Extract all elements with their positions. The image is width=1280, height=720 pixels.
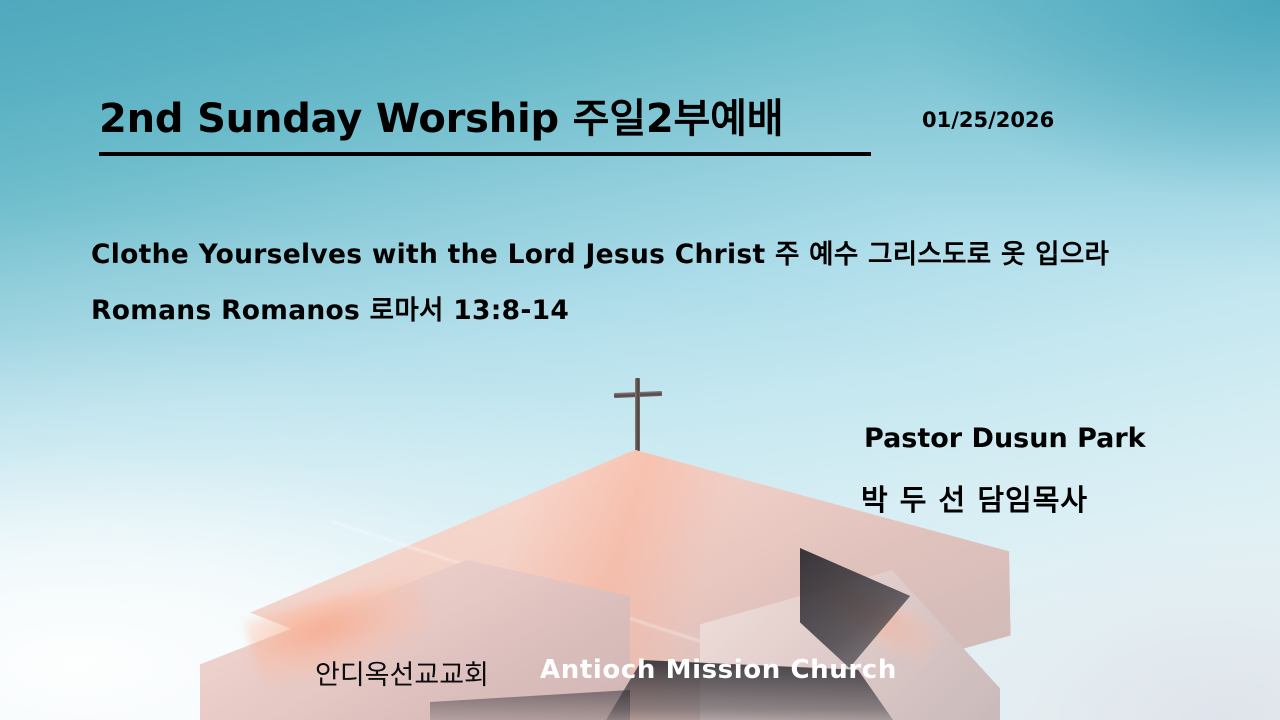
preacher-name-korean: 박 두 선 담임목사 [861, 477, 1088, 519]
page-title: 2nd Sunday Worship 주일2부예배 [99, 98, 783, 140]
sermon-theme: Clothe Yourselves with the Lord Jesus Ch… [91, 232, 1109, 271]
church-name-korean: 안디옥선교교회 [315, 653, 489, 692]
worship-slide: 2nd Sunday Worship 주일2부예배 01/25/2026 Clo… [0, 0, 1280, 720]
preacher-name-english: Pastor Dusun Park [864, 423, 1146, 454]
title-underline [99, 152, 871, 156]
service-date: 01/25/2026 [922, 108, 1054, 132]
scripture-reference: Romans Romanos 로마서 13:8-14 [91, 288, 569, 327]
cross-post [635, 378, 640, 456]
church-name-english: Antioch Mission Church [540, 655, 897, 685]
